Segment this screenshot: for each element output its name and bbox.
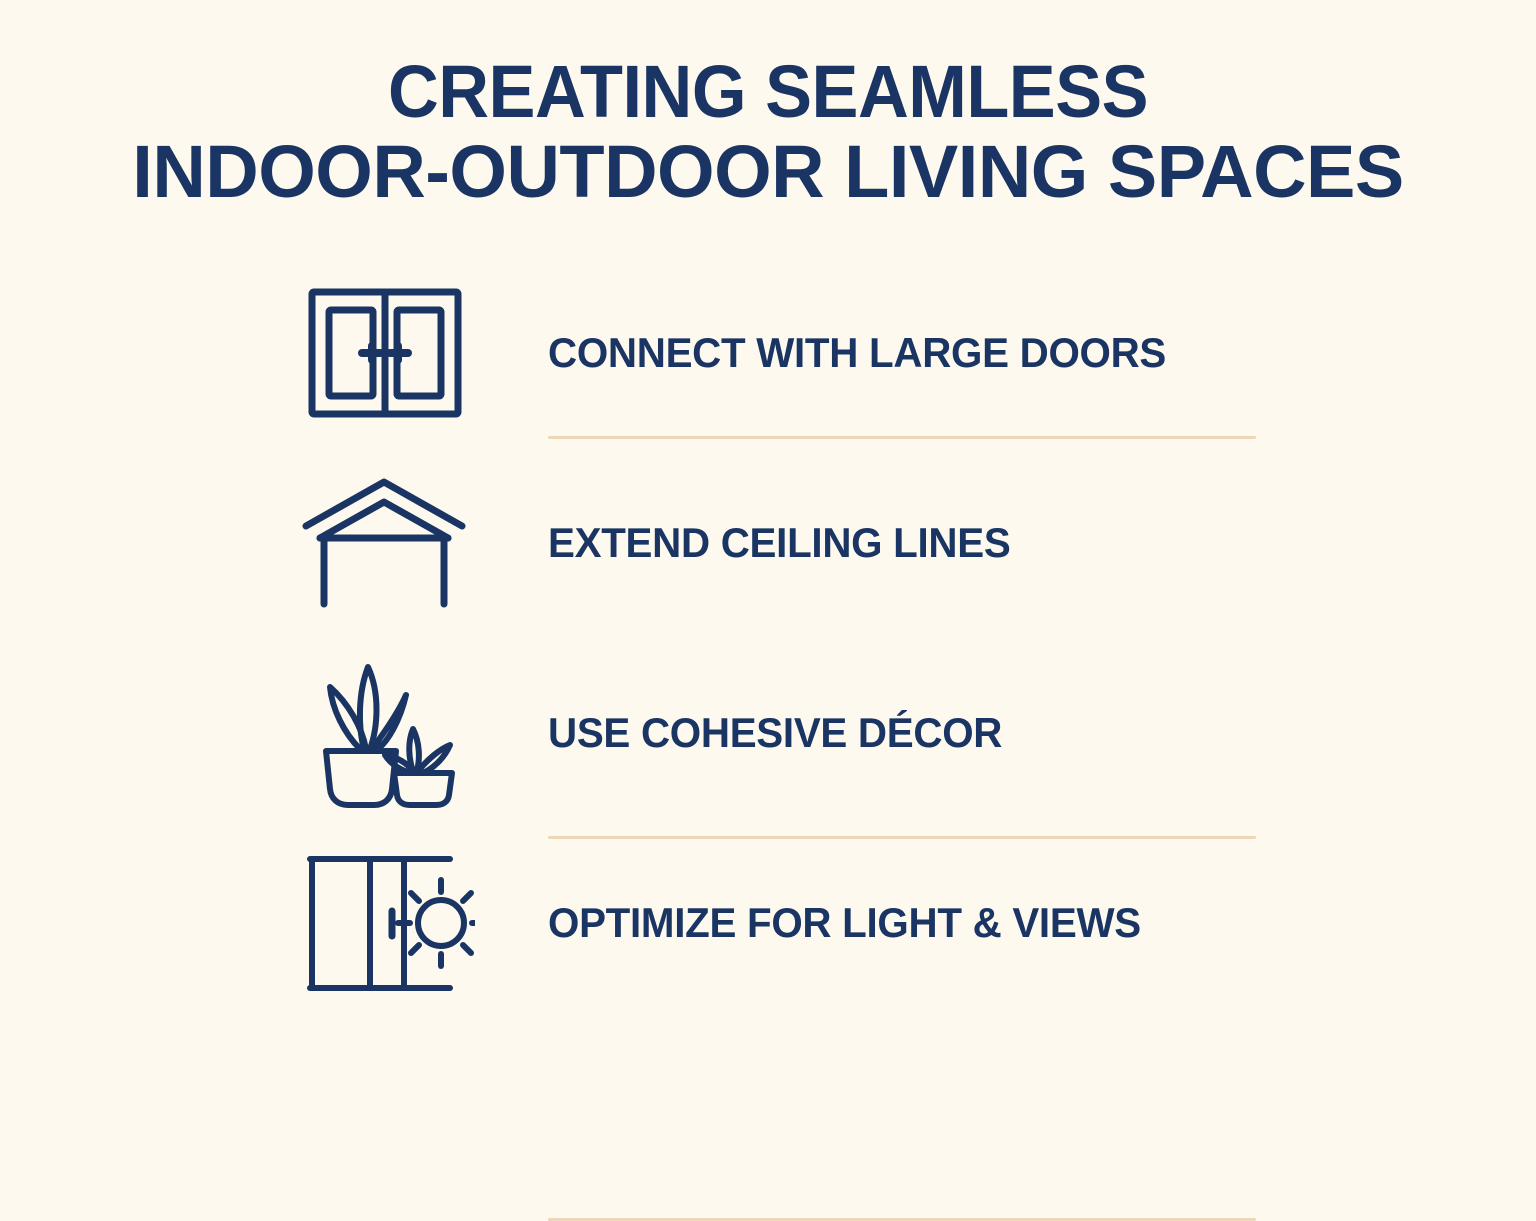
infographic-page: CREATING SEAMLESS INDOOR-OUTDOOR LIVING … xyxy=(0,0,1536,1024)
list-item-label-cell: OPTIMIZE FOR LIGHT & VIEWS xyxy=(548,900,1536,946)
list-item-label: OPTIMIZE FOR LIGHT & VIEWS xyxy=(548,900,1141,946)
list-item-label-cell: CONNECT WITH LARGE DOORS xyxy=(548,330,1536,376)
list-item: CONNECT WITH LARGE DOORS xyxy=(0,258,1536,448)
list-item: USE COHESIVE DÉCOR xyxy=(0,638,1536,828)
list-item-label-cell: USE COHESIVE DÉCOR xyxy=(548,710,1536,756)
list-item-label: EXTEND CEILING LINES xyxy=(548,520,1010,566)
page-title: CREATING SEAMLESS INDOOR-OUTDOOR LIVING … xyxy=(0,52,1536,212)
page-title-line-1: CREATING SEAMLESS xyxy=(38,52,1497,132)
tips-list: CONNECT WITH LARGE DOORS EXTEN xyxy=(0,258,1536,1018)
potted-plants-icon xyxy=(300,653,480,813)
list-item-label: CONNECT WITH LARGE DOORS xyxy=(548,330,1166,376)
double-door-icon xyxy=(300,273,480,433)
list-item: OPTIMIZE FOR LIGHT & VIEWS xyxy=(0,828,1536,1018)
sliding-door-sun-icon xyxy=(300,843,480,1003)
list-item-label-cell: EXTEND CEILING LINES xyxy=(548,520,1536,566)
list-item-label: USE COHESIVE DÉCOR xyxy=(548,710,1002,756)
page-title-line-2: INDOOR-OUTDOOR LIVING SPACES xyxy=(0,132,1536,212)
pavilion-roof-icon xyxy=(300,463,480,623)
list-divider xyxy=(548,436,1256,439)
list-item: EXTEND CEILING LINES xyxy=(0,448,1536,638)
